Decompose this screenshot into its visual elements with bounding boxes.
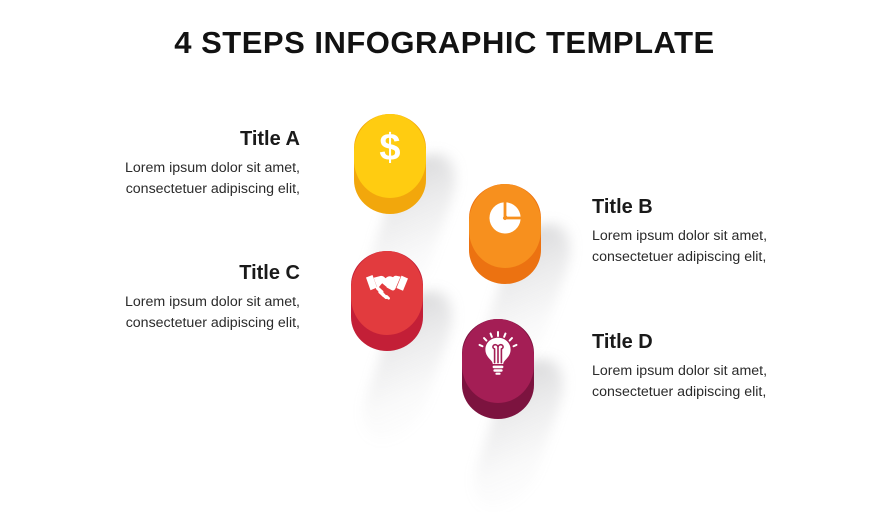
step-description-a: Lorem ipsum dolor sit amet, consectetuer… bbox=[40, 158, 300, 199]
step-title-a: Title A bbox=[40, 128, 300, 151]
step-marker-a[interactable]: $ bbox=[354, 114, 426, 214]
handshake-icon bbox=[351, 257, 423, 313]
svg-text:$: $ bbox=[379, 128, 400, 168]
step-marker-d[interactable] bbox=[462, 319, 534, 419]
step-marker-c[interactable] bbox=[351, 251, 423, 351]
step-description-d: Lorem ipsum dolor sit amet, consectetuer… bbox=[592, 361, 852, 402]
step-text-d: Title D Lorem ipsum dolor sit amet, cons… bbox=[592, 331, 852, 402]
pie-chart-icon bbox=[469, 190, 541, 246]
step-title-b: Title B bbox=[592, 196, 852, 219]
step-description-b: Lorem ipsum dolor sit amet, consectetuer… bbox=[592, 226, 852, 267]
step-marker-b[interactable] bbox=[469, 184, 541, 284]
page-title: 4 STEPS INFOGRAPHIC TEMPLATE bbox=[0, 25, 889, 61]
step-title-c: Title C bbox=[40, 262, 300, 285]
infographic-canvas: 4 STEPS INFOGRAPHIC TEMPLATE $ bbox=[0, 0, 889, 500]
dollar-icon: $ bbox=[354, 120, 426, 176]
step-text-a: Title A Lorem ipsum dolor sit amet, cons… bbox=[40, 128, 300, 199]
step-description-c: Lorem ipsum dolor sit amet, consectetuer… bbox=[40, 292, 300, 333]
lightbulb-icon bbox=[462, 325, 534, 381]
step-text-c: Title C Lorem ipsum dolor sit amet, cons… bbox=[40, 262, 300, 333]
step-title-d: Title D bbox=[592, 331, 852, 354]
step-text-b: Title B Lorem ipsum dolor sit amet, cons… bbox=[592, 196, 852, 267]
